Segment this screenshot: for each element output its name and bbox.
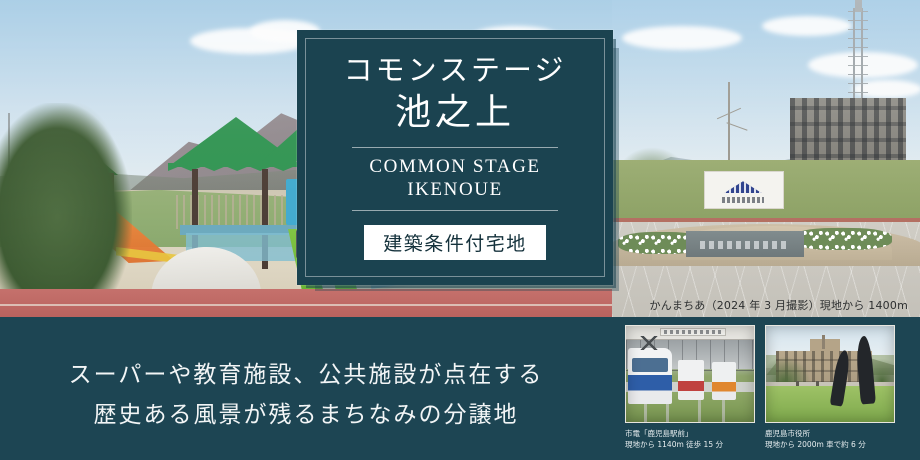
thumb-vignette	[626, 326, 754, 422]
thumb-vignette	[766, 326, 894, 422]
thumb-caption: 市電「鹿児島駅前」 現地から 1140m 徒歩 15 分	[625, 428, 753, 451]
red-track-surface	[0, 289, 612, 317]
tree	[0, 103, 132, 293]
tagline-line1: スーパーや教育施設、公共施設が点在する	[0, 355, 612, 395]
thumb-caption-line1: 鹿児島市役所	[765, 428, 893, 439]
hero-banner: かんまちあ（2024 年 3 月撮影）現地から 1400m コモンステージ 池之…	[0, 0, 920, 460]
thumbnail-list: 市電「鹿児島駅前」 現地から 1140m 徒歩 15 分	[625, 325, 893, 451]
monument-base-text	[700, 241, 788, 249]
tower-antenna	[855, 0, 862, 12]
title-en-line2: IKENOUE	[369, 178, 540, 201]
flower-bed	[792, 228, 892, 250]
monument-sign-text	[722, 197, 764, 203]
title-divider-top	[352, 147, 558, 148]
thumb-caption: 鹿児島市役所 現地から 2000m 車で約 6 分	[765, 428, 893, 451]
tagline-line2: 歴史ある風景が残るまちなみの分譲地	[0, 395, 612, 435]
thumb-caption-line2: 現地から 2000m 車で約 6 分	[765, 439, 893, 450]
list-item[interactable]: 鹿児島市役所 現地から 2000m 車で約 6 分	[765, 325, 893, 451]
tagline-band: スーパーや教育施設、公共施設が点在する 歴史ある風景が残るまちなみの分譲地	[0, 317, 920, 460]
tagline: スーパーや教育施設、公共施設が点在する 歴史ある風景が残るまちなみの分譲地	[0, 355, 612, 435]
title-panel: コモンステージ 池之上 COMMON STAGE IKENOUE 建築条件付宅地	[297, 30, 613, 285]
cloud-icon	[622, 26, 742, 50]
list-item[interactable]: 市電「鹿児島駅前」 現地から 1140m 徒歩 15 分	[625, 325, 753, 451]
plaza-monument-photo: かんまちあ（2024 年 3 月撮影）現地から 1400m	[612, 0, 920, 317]
right-photo-caption: かんまちあ（2024 年 3 月撮影）現地から 1400m	[650, 297, 909, 313]
title-divider-bottom	[352, 210, 558, 211]
status-badge: 建築条件付宅地	[364, 225, 546, 260]
panel-content: コモンステージ 池之上 COMMON STAGE IKENOUE 建築条件付宅地	[297, 30, 613, 285]
title-en-line1: COMMON STAGE	[369, 155, 540, 178]
title-kana: コモンステージ	[344, 56, 567, 85]
thumb-caption-line1: 市電「鹿児島駅前」	[625, 428, 753, 439]
thumb-caption-line2: 現地から 1140m 徒歩 15 分	[625, 439, 753, 450]
tram-station-photo[interactable]	[625, 325, 755, 423]
cloud-icon	[762, 16, 852, 36]
title-en: COMMON STAGE IKENOUE	[369, 155, 540, 201]
photo-band: かんまちあ（2024 年 3 月撮影）現地から 1400m コモンステージ 池之…	[0, 0, 920, 317]
page-title: 池之上	[395, 95, 515, 131]
city-hall-photo[interactable]	[765, 325, 895, 423]
track-line	[0, 304, 612, 306]
